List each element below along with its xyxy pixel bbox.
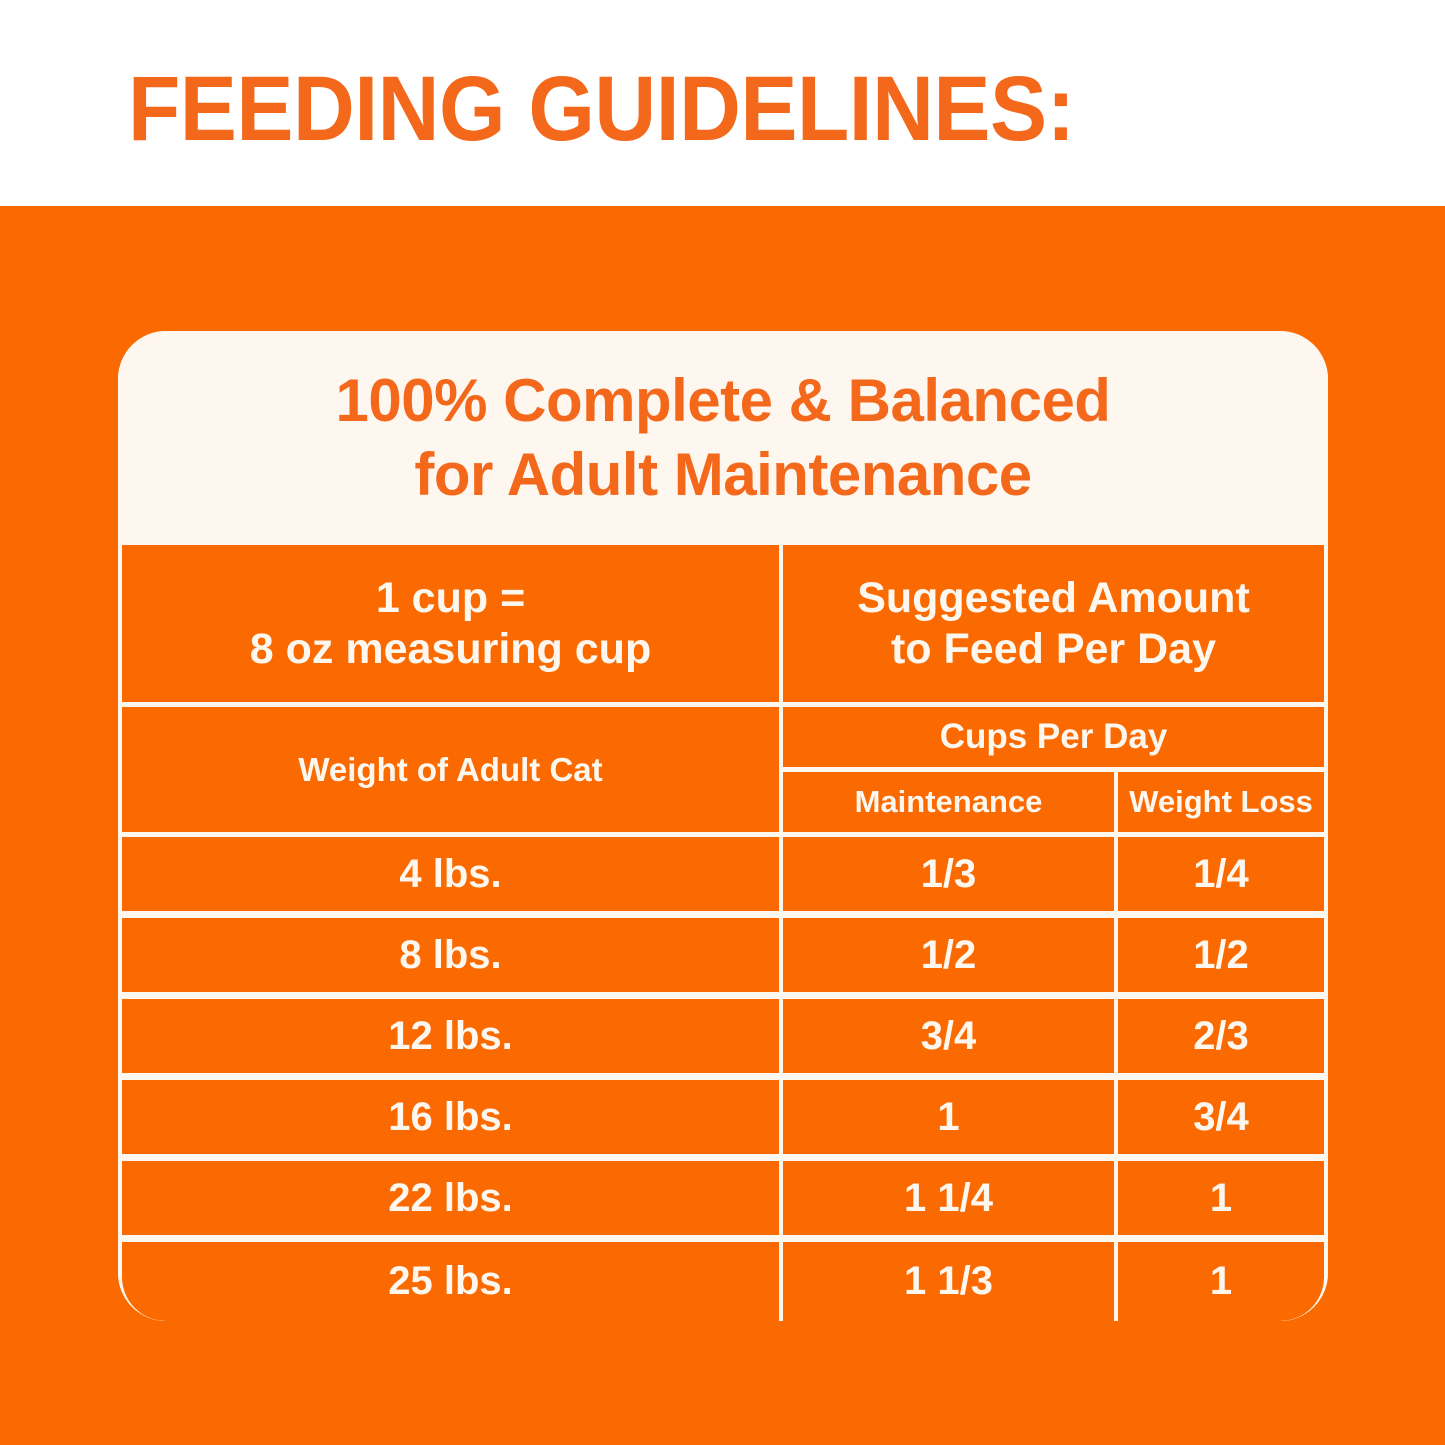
feeding-card: 100% Complete & Balanced for Adult Maint… (118, 331, 1328, 1321)
page-title: FEEDING GUIDELINES: (128, 61, 1075, 157)
table-row-weight-loss: 3/4 (1118, 1080, 1324, 1154)
column-header-maintenance: Maintenance (783, 772, 1114, 832)
card-heading: 100% Complete & Balanced for Adult Maint… (118, 331, 1328, 545)
cup-note-line-2: 8 oz measuring cup (250, 624, 651, 675)
column-header-weight: Weight of Adult Cat (122, 707, 779, 832)
table-row-maintenance: 3/4 (783, 999, 1114, 1073)
table-row-maintenance: 1 1/4 (783, 1161, 1114, 1235)
cup-note-line-1: 1 cup = (376, 573, 525, 624)
table-row-weight-loss: 1 (1118, 1242, 1324, 1321)
suggested-amount-cell: Suggested Amount to Feed Per Day (783, 545, 1324, 702)
cup-equivalence-cell: 1 cup = 8 oz measuring cup (122, 545, 779, 702)
card-heading-line-2: for Adult Maintenance (414, 438, 1031, 512)
table-row-weight-loss: 1/2 (1118, 918, 1324, 992)
column-header-cups-per-day: Cups Per Day (783, 707, 1324, 767)
table-row-weight: 16 lbs. (122, 1080, 779, 1154)
table-row-maintenance: 1 1/3 (783, 1242, 1114, 1321)
table-row-weight-loss: 2/3 (1118, 999, 1324, 1073)
suggested-line-2: to Feed Per Day (891, 624, 1216, 675)
card-heading-line-1: 100% Complete & Balanced (336, 364, 1111, 438)
table-row-weight: 4 lbs. (122, 837, 779, 911)
table-row-weight-loss: 1/4 (1118, 837, 1324, 911)
table-row-weight: 25 lbs. (122, 1242, 779, 1321)
suggested-line-1: Suggested Amount (857, 573, 1250, 624)
table-row-maintenance: 1/3 (783, 837, 1114, 911)
table-row-weight: 8 lbs. (122, 918, 779, 992)
table-row-weight: 12 lbs. (122, 999, 779, 1073)
table-row-weight-loss: 1 (1118, 1161, 1324, 1235)
banner: FEEDING GUIDELINES: (0, 0, 1445, 206)
table-row-maintenance: 1/2 (783, 918, 1114, 992)
table-row-weight: 22 lbs. (122, 1161, 779, 1235)
table-row-maintenance: 1 (783, 1080, 1114, 1154)
feeding-table: 1 cup = 8 oz measuring cup Suggested Amo… (118, 545, 1328, 1321)
column-header-weight-loss: Weight Loss (1118, 772, 1324, 832)
feeding-guidelines-panel: FEEDING GUIDELINES: 100% Complete & Bala… (0, 0, 1445, 1445)
